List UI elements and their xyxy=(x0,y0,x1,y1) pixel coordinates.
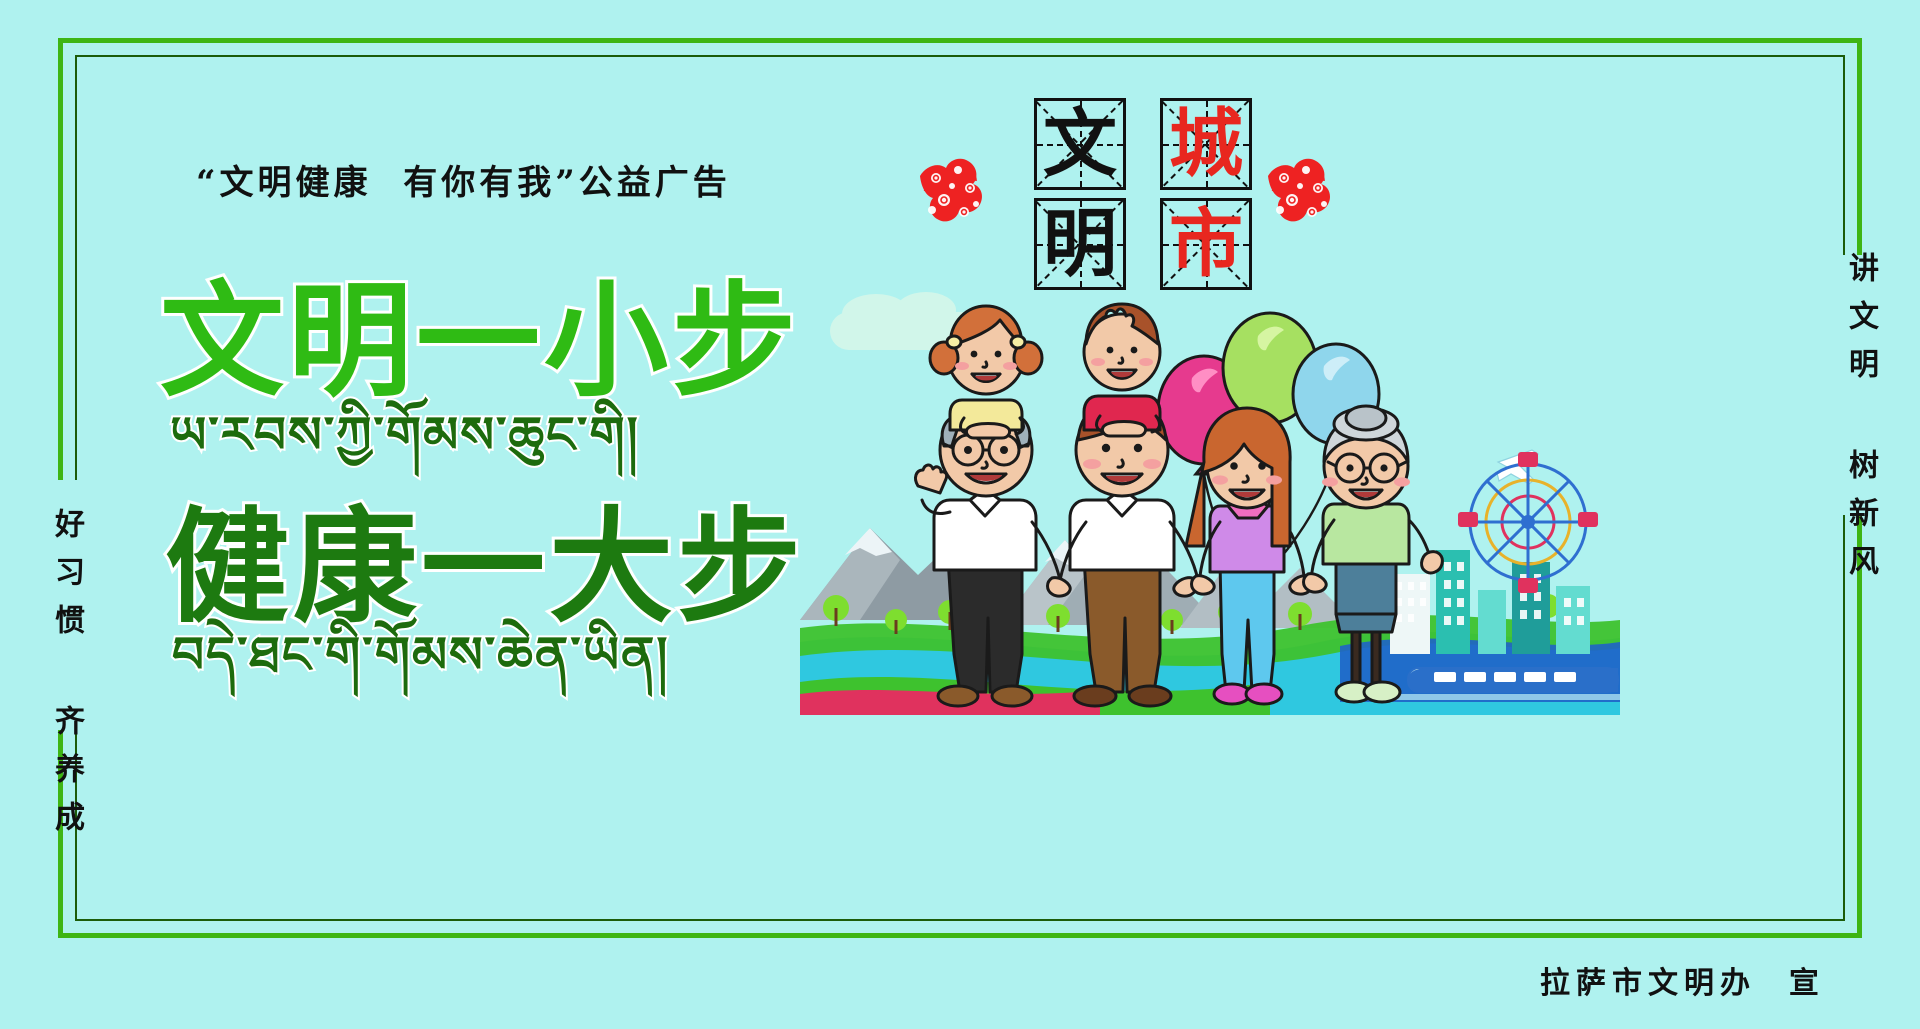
civilized-city-seal: 文 城 明 市 xyxy=(1000,98,1320,293)
side-slogan-left: 好习惯 齐养成 xyxy=(44,508,88,849)
seal-cell-ming: 明 xyxy=(1034,198,1126,290)
family-illustration xyxy=(800,290,1620,715)
headline-line2-tibetan: བདེ་ཐང་གི་གོམས་ཆེན་ཡིན། xyxy=(172,600,669,740)
train-icon xyxy=(1396,668,1620,700)
seal-char-shi: 市 xyxy=(1163,201,1249,287)
papercut-ornament-right-icon xyxy=(1262,150,1338,234)
subhead-text: “文明健康 有你有我”公益广告 xyxy=(196,155,731,204)
person-boy xyxy=(1084,304,1160,436)
seal-char-wen: 文 xyxy=(1037,101,1123,187)
seal-cell-shi: 市 xyxy=(1160,198,1252,290)
seal-char-ming: 明 xyxy=(1037,201,1123,287)
footer-signature: 拉萨市文明办 宣 xyxy=(1540,958,1825,1002)
seal-cell-cheng: 城 xyxy=(1160,98,1252,190)
side-slogan-right: 讲文明 树新风 xyxy=(1838,252,1882,593)
seal-cell-wen: 文 xyxy=(1034,98,1126,190)
poster-canvas: “文明健康 有你有我”公益广告 文明一小步 ཡ་རབས་ཀྱི་གོམས་ཆུང… xyxy=(0,0,1920,1029)
seal-char-cheng: 城 xyxy=(1163,101,1249,187)
papercut-ornament-left-icon xyxy=(914,150,990,234)
